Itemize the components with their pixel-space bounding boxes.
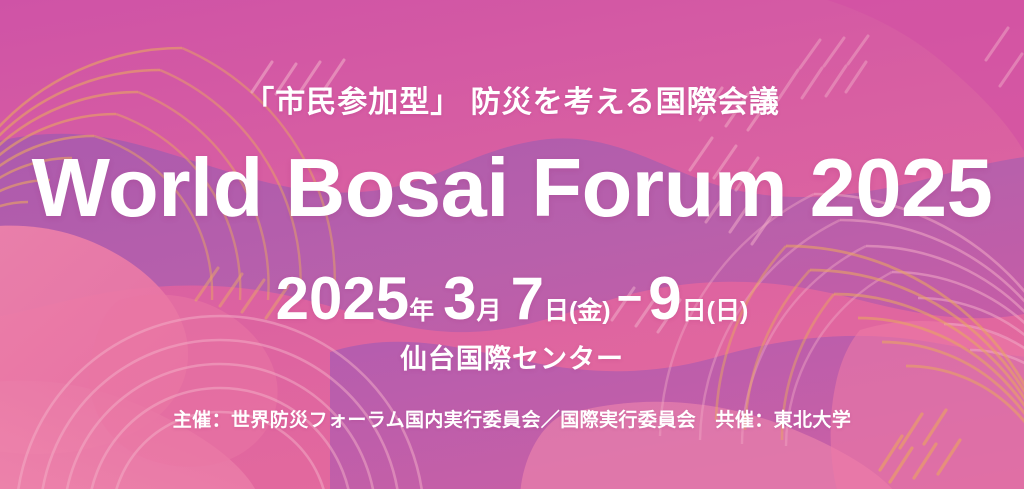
event-title: World Bosai Forum 2025 (32, 146, 993, 229)
event-venue: 仙台国際センター (400, 346, 624, 373)
date-year-number: 2025 (276, 269, 409, 329)
banner-content: 「市民参加型」 防災を考える国際会議 World Bosai Forum 202… (0, 0, 1024, 489)
date-start-day-number: 7 (511, 269, 544, 329)
event-banner: 「市民参加型」 防災を考える国際会議 World Bosai Forum 202… (0, 0, 1024, 489)
date-month-number: 3 (443, 269, 476, 329)
date-end-day-number: 9 (648, 269, 681, 329)
date-range-dash: − (611, 277, 649, 321)
date-start-day-unit: 日(金) (544, 299, 611, 324)
date-end-day-unit: 日(日) (682, 299, 749, 324)
event-date: 2025 年 3 月 7 日(金) − 9 日(日) (276, 269, 749, 329)
event-subtitle: 「市民参加型」 防災を考える国際会議 (244, 88, 779, 118)
date-year-unit: 年 (409, 299, 434, 324)
date-month-unit: 月 (477, 299, 502, 324)
event-organizers: 主催：世界防災フォーラム国内実行委員会／国際実行委員会 共催：東北大学 (173, 411, 851, 430)
